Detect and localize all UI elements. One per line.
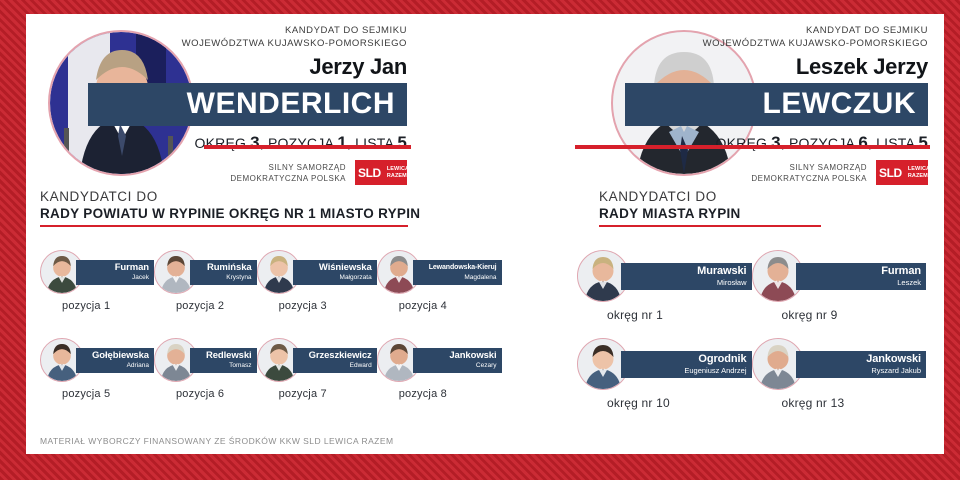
candidate-firstname: Cezary <box>429 361 497 371</box>
candidate-firstname: Krystyna <box>206 273 252 283</box>
candidate-card-header: FurmanLeszek <box>752 250 927 302</box>
candidate-card[interactable]: RedlewskiTomaszpozycja 6 <box>154 338 257 426</box>
tagline-and-logo-row: SILNY SAMORZĄD DEMOKRATYCZNA POLSKA SLD … <box>751 160 928 185</box>
candidate-surname: Lewandowska-Kieruj <box>429 262 497 273</box>
candidate-position-label: pozycja 2 <box>154 300 257 312</box>
candidate-firstname: Jacek <box>92 273 149 283</box>
candidate-surname: Wiśniewska <box>309 262 372 273</box>
sld-sublabel: LEWICA RAZEM <box>908 166 930 179</box>
tagline-line2: DEMOKRATYCZNA POLSKA <box>230 173 346 184</box>
party-tagline: SILNY SAMORZĄD DEMOKRATYCZNA POLSKA <box>230 162 346 184</box>
candidate-ballot-info: OKRĘG 3, POZYCJA 6, LISTA 5 <box>485 133 928 153</box>
candidate-card[interactable]: RumińskaKrystynapozycja 2 <box>154 250 257 338</box>
pozycja-value: 1 <box>337 133 347 152</box>
candidate-firstname: Leszek <box>812 278 922 288</box>
sld-logo: SLD LEWICA RAZEM <box>876 160 928 185</box>
tagline-line2: DEMOKRATYCZNA POLSKA <box>751 173 867 184</box>
candidate-card-header: JankowskiRyszard Jakub <box>752 338 927 390</box>
section-heading: KANDYDATCI DO RADY POWIATU W RYPINIE OKR… <box>26 188 485 227</box>
candidate-name-banner: JankowskiCezary <box>413 348 502 373</box>
candidate-firstname: Jerzy Jan <box>26 55 407 79</box>
candidate-card-header: WiśniewskaMałgorzata <box>257 250 377 294</box>
section-miasto: KANDYDATCI DO RADY MIASTA RYPIN <box>485 188 944 227</box>
candidate-card[interactable]: FurmanLeszekokręg nr 9 <box>752 250 927 338</box>
candidate-surname: LEWCZUK <box>763 87 916 120</box>
candidate-card-header: GołębiewskaAdriana <box>40 338 154 382</box>
candidate-surname: Furman <box>92 262 149 273</box>
candidate-name-banner: GrzeszkiewiczEdward <box>293 348 377 373</box>
okreg-value: 3 <box>250 133 260 152</box>
sld-sublabel-line2: RAZEM <box>387 173 409 180</box>
candidate-surname: Ogrodnik <box>637 353 747 366</box>
funding-disclaimer: MATERIAŁ WYBORCZY FINANSOWANY ZE ŚRODKÓW… <box>40 436 393 446</box>
candidate-position-label: pozycja 5 <box>40 388 154 400</box>
sejmik-candidate-lewczuk: KANDYDAT DO SEJMIKU WOJEWÓDZTWA KUJAWSKO… <box>485 14 944 186</box>
sejmik-kicker-line2: WOJEWÓDZTWA KUJAWSKO-POMORSKIEGO <box>26 37 407 50</box>
candidate-text-block: KANDYDAT DO SEJMIKU WOJEWÓDZTWA KUJAWSKO… <box>26 24 485 153</box>
pozycja-value: 6 <box>858 133 868 152</box>
candidate-surname: Grzeszkiewicz <box>309 350 372 361</box>
candidate-firstname: Mirosław <box>637 278 747 288</box>
sld-sublabel: LEWICA RAZEM <box>387 166 409 179</box>
sejmik-kicker-line2: WOJEWÓDZTWA KUJAWSKO-POMORSKIEGO <box>485 37 928 50</box>
candidate-firstname: Magdalena <box>429 273 497 283</box>
poster-inner-panel: KANDYDAT DO SEJMIKU WOJEWÓDZTWA KUJAWSKO… <box>26 14 944 454</box>
sejmik-candidates-row: KANDYDAT DO SEJMIKU WOJEWÓDZTWA KUJAWSKO… <box>26 14 944 186</box>
miasto-candidate-grid: MurawskiMirosławokręg nr 1 FurmanLeszeko… <box>485 250 944 426</box>
sld-sublabel-line1: LEWICA <box>908 166 930 173</box>
election-poster: KANDYDAT DO SEJMIKU WOJEWÓDZTWA KUJAWSKO… <box>0 0 960 480</box>
candidate-ballot-info: OKRĘG 3, POZYCJA 1, LISTA 5 <box>26 133 407 153</box>
sejmik-kicker-line1: KANDYDAT DO SEJMIKU <box>485 24 928 37</box>
red-divider-rule <box>575 145 930 149</box>
candidate-card-header: RumińskaKrystyna <box>154 250 257 294</box>
candidate-firstname: Eugeniusz Andrzej <box>637 366 747 376</box>
candidate-firstname: Ryszard Jakub <box>812 366 922 376</box>
candidate-firstname: Edward <box>309 361 372 371</box>
candidate-card[interactable]: GrzeszkiewiczEdwardpozycja 7 <box>257 338 377 426</box>
powiat-candidate-grid: FurmanJacekpozycja 1 RumińskaKrystynapoz… <box>26 250 485 426</box>
candidate-position-label: pozycja 4 <box>377 300 502 312</box>
candidate-name-banner: GołębiewskaAdriana <box>76 348 154 373</box>
candidate-surname-banner: LEWCZUK <box>625 83 928 126</box>
candidate-firstname: Tomasz <box>206 361 252 371</box>
candidate-card-header: JankowskiCezary <box>377 338 502 382</box>
candidate-card-header: RedlewskiTomasz <box>154 338 257 382</box>
section-kicker: KANDYDATCI DO <box>40 188 485 205</box>
candidate-position-label: okręg nr 9 <box>752 308 927 322</box>
sejmik-candidate-wenderlich: KANDYDAT DO SEJMIKU WOJEWÓDZTWA KUJAWSKO… <box>26 14 485 186</box>
candidate-card-header: GrzeszkiewiczEdward <box>257 338 377 382</box>
candidate-name-banner: JankowskiRyszard Jakub <box>796 351 927 378</box>
candidate-card[interactable]: GołębiewskaAdrianapozycja 5 <box>40 338 154 426</box>
candidate-position-label: okręg nr 13 <box>752 396 927 410</box>
section-underline <box>599 225 821 227</box>
sld-wordmark: SLD <box>876 166 902 180</box>
candidate-position-label: okręg nr 1 <box>577 308 752 322</box>
candidate-card[interactable]: MurawskiMirosławokręg nr 1 <box>577 250 752 338</box>
candidate-position-label: pozycja 3 <box>257 300 377 312</box>
section-title: RADY MIASTA RYPIN <box>599 205 944 222</box>
candidate-firstname: Leszek Jerzy <box>485 55 928 79</box>
section-kicker: KANDYDATCI DO <box>599 188 944 205</box>
candidate-card[interactable]: WiśniewskaMałgorzatapozycja 3 <box>257 250 377 338</box>
section-headings-row: KANDYDATCI DO RADY POWIATU W RYPINIE OKR… <box>26 188 944 227</box>
candidate-card[interactable]: Lewandowska-KierujMagdalenapozycja 4 <box>377 250 502 338</box>
candidate-position-label: pozycja 1 <box>40 300 154 312</box>
candidate-surname: Jankowski <box>812 353 922 366</box>
candidate-grids: FurmanJacekpozycja 1 RumińskaKrystynapoz… <box>26 250 944 426</box>
candidate-name-banner: OgrodnikEugeniusz Andrzej <box>621 351 752 378</box>
candidate-card[interactable]: JankowskiCezarypozycja 8 <box>377 338 502 426</box>
lista-value: 5 <box>918 133 928 152</box>
candidate-name-banner: WiśniewskaMałgorzata <box>293 260 377 285</box>
candidate-name-banner: FurmanLeszek <box>796 263 927 290</box>
section-underline <box>40 225 408 227</box>
candidate-surname-banner: WENDERLICH <box>88 83 407 126</box>
sld-sublabel-line1: LEWICA <box>387 166 409 173</box>
candidate-card-header: FurmanJacek <box>40 250 154 294</box>
candidate-position-label: pozycja 8 <box>377 388 502 400</box>
okreg-value: 3 <box>771 133 781 152</box>
candidate-card[interactable]: FurmanJacekpozycja 1 <box>40 250 154 338</box>
party-tagline: SILNY SAMORZĄD DEMOKRATYCZNA POLSKA <box>751 162 867 184</box>
tagline-line1: SILNY SAMORZĄD <box>751 162 867 173</box>
candidate-text-block: KANDYDAT DO SEJMIKU WOJEWÓDZTWA KUJAWSKO… <box>485 24 944 153</box>
candidate-surname: Murawski <box>637 265 747 278</box>
section-heading: KANDYDATCI DO RADY MIASTA RYPIN <box>585 188 944 227</box>
sld-wordmark: SLD <box>355 166 381 180</box>
sld-logo: SLD LEWICA RAZEM <box>355 160 407 185</box>
candidate-position-label: okręg nr 10 <box>577 396 752 410</box>
red-divider-rule <box>204 145 411 149</box>
candidate-card-header: OgrodnikEugeniusz Andrzej <box>577 338 752 390</box>
candidate-position-label: pozycja 6 <box>154 388 257 400</box>
candidate-card-header: MurawskiMirosław <box>577 250 752 302</box>
lista-value: 5 <box>397 133 407 152</box>
candidate-name-banner: RedlewskiTomasz <box>190 348 257 373</box>
tagline-and-logo-row: SILNY SAMORZĄD DEMOKRATYCZNA POLSKA SLD … <box>230 160 407 185</box>
section-title: RADY POWIATU W RYPINIE OKRĘG NR 1 MIASTO… <box>40 205 485 222</box>
candidate-surname: Jankowski <box>429 350 497 361</box>
tagline-line1: SILNY SAMORZĄD <box>230 162 346 173</box>
candidate-surname: Gołębiewska <box>92 350 149 361</box>
candidate-card[interactable]: OgrodnikEugeniusz Andrzejokręg nr 10 <box>577 338 752 426</box>
candidate-position-label: pozycja 7 <box>257 388 377 400</box>
candidate-surname: Rumińska <box>206 262 252 273</box>
candidate-surname: Redlewski <box>206 350 252 361</box>
sejmik-kicker-line1: KANDYDAT DO SEJMIKU <box>26 24 407 37</box>
candidate-name-banner: RumińskaKrystyna <box>190 260 257 285</box>
candidate-name-banner: FurmanJacek <box>76 260 154 285</box>
candidate-surname: Furman <box>812 265 922 278</box>
candidate-name-banner: Lewandowska-KierujMagdalena <box>413 260 502 285</box>
candidate-name-banner: MurawskiMirosław <box>621 263 752 290</box>
candidate-firstname: Adriana <box>92 361 149 371</box>
candidate-card-header: Lewandowska-KierujMagdalena <box>377 250 502 294</box>
candidate-firstname: Małgorzata <box>309 273 372 283</box>
candidate-card[interactable]: JankowskiRyszard Jakubokręg nr 13 <box>752 338 927 426</box>
sld-sublabel-line2: RAZEM <box>908 173 930 180</box>
candidate-surname: WENDERLICH <box>187 87 395 120</box>
section-powiat: KANDYDATCI DO RADY POWIATU W RYPINIE OKR… <box>26 188 485 227</box>
